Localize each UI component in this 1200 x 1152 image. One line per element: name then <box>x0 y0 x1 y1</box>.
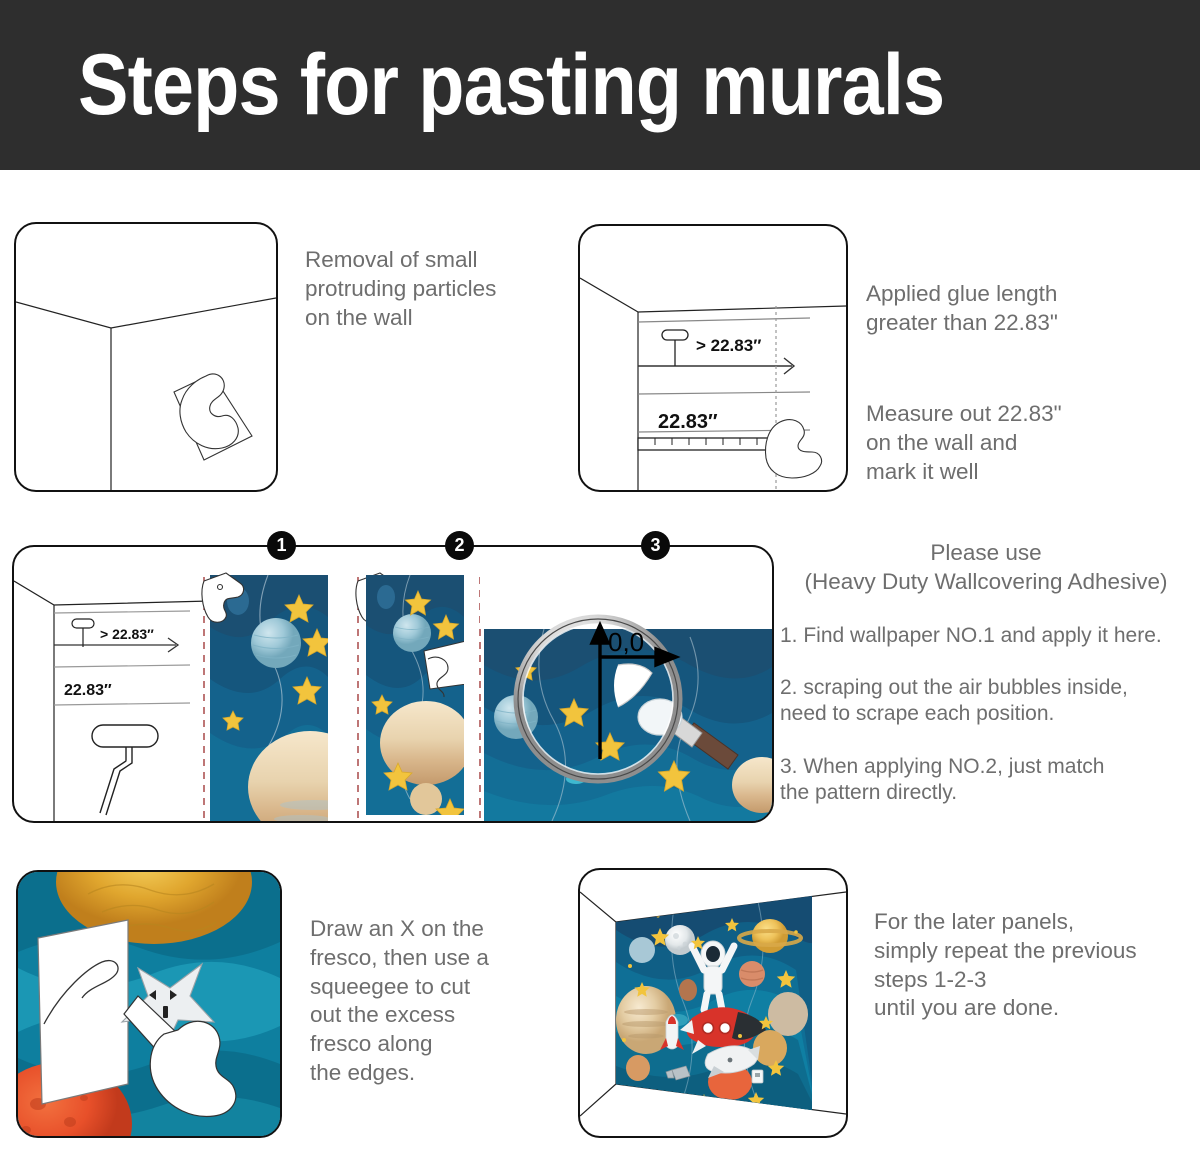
roller-length-label: > 22.83″ <box>696 336 761 355</box>
caption-cut-excess-fresco: Draw an X on the fresco, then use a sque… <box>310 915 545 1088</box>
origin-label: 0,0 <box>608 627 644 657</box>
steps-instruction-block: Please use (Heavy Duty Wallcovering Adhe… <box>780 538 1192 807</box>
caption-repeat-for-later-panels: For the later panels, simply repeat the … <box>874 908 1194 1023</box>
adhesive-heading-line1: Please use <box>780 538 1192 567</box>
step-badge-1: 1 <box>267 531 296 560</box>
instruction-1: 1. Find wallpaper NO.1 and apply it here… <box>780 623 1192 649</box>
page-header: Steps for pasting murals <box>0 0 1200 170</box>
caption-removal-of-particles: Removal of small protruding particles on… <box>305 246 555 332</box>
step-badge-3: 3 <box>641 531 670 560</box>
panel-removal-of-particles <box>14 222 278 492</box>
adhesive-heading-line2: (Heavy Duty Wallcovering Adhesive) <box>780 567 1192 596</box>
instruction-2: 2. scraping out the air bubbles inside, … <box>780 675 1192 728</box>
panel-measure-and-mark: > 22.83″ 22.83″ <box>578 224 848 492</box>
caption-measure-and-mark: Measure out 22.83" on the wall and mark … <box>866 400 1176 486</box>
tape-length-label-steps: 22.83″ <box>64 682 112 699</box>
step-badge-2: 2 <box>445 531 474 560</box>
panel-cut-excess-fresco <box>16 870 282 1138</box>
panel-three-step-application: > 22.83″ 22.83″ <box>12 545 774 823</box>
panel-repeat-for-later-panels <box>578 868 848 1138</box>
caption-applied-glue-length: Applied glue length greater than 22.83" <box>866 280 1166 338</box>
page-title: Steps for pasting murals <box>78 42 944 128</box>
tape-length-label: 22.83″ <box>658 411 718 433</box>
roller-length-label-steps: > 22.83″ <box>100 626 154 642</box>
instruction-3: 3. When applying NO.2, just match the pa… <box>780 754 1192 807</box>
